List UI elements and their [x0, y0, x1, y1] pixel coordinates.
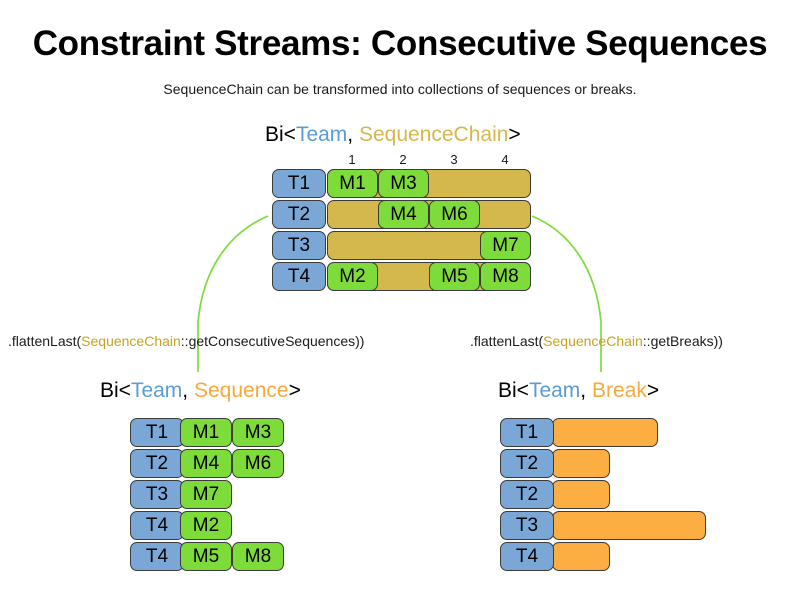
- break-bar-3: [552, 511, 706, 540]
- top-match-cell-M7: M7: [480, 231, 531, 260]
- sequence-match-cell-M3: M3: [232, 418, 284, 447]
- right-call-after: ::getBreaks)): [643, 333, 723, 349]
- sequence-team-cell-0: T1: [130, 418, 184, 447]
- sequence-match-cell-M1: M1: [180, 418, 232, 447]
- top-match-cell-M8: M8: [480, 262, 531, 291]
- break-bar-1: [552, 449, 610, 478]
- top-match-cell-M2: M2: [327, 262, 378, 291]
- break-team-cell-3: T3: [500, 511, 554, 540]
- sequence-match-cell-M6: M6: [232, 449, 284, 478]
- top-match-cell-M6: M6: [429, 200, 480, 229]
- sequence-team-cell-4: T4: [130, 542, 184, 571]
- left-call-highlight: SequenceChain: [81, 333, 181, 349]
- top-match-cell-M1: M1: [327, 169, 378, 198]
- left-call-after: ::getConsecutiveSequences)): [181, 333, 365, 349]
- break-bar-2: [552, 480, 610, 509]
- sequence-match-cell-M5: M5: [180, 542, 232, 571]
- break-team-cell-2: T2: [500, 480, 554, 509]
- break-bar-0: [552, 418, 658, 447]
- connector-left-curve: [198, 216, 268, 322]
- sequence-team-cell-2: T3: [130, 480, 184, 509]
- flatten-consecutive-sequences-call: .flattenLast(SequenceChain::getConsecuti…: [8, 333, 364, 349]
- top-match-cell-M3: M3: [378, 169, 429, 198]
- break-team-cell-0: T1: [500, 418, 554, 447]
- right-call-highlight: SequenceChain: [543, 333, 643, 349]
- diagram-canvas: Constraint Streams: Consecutive Sequence…: [0, 0, 800, 600]
- right-call-before: .flattenLast(: [470, 333, 543, 349]
- break-bar-4: [552, 542, 610, 571]
- connector-right-curve: [532, 216, 601, 322]
- sequence-match-cell-M4: M4: [180, 449, 232, 478]
- break-team-cell-4: T4: [500, 542, 554, 571]
- top-team-cell-T3: T3: [272, 231, 326, 260]
- sequence-match-cell-M8: M8: [232, 542, 284, 571]
- flatten-breaks-call: .flattenLast(SequenceChain::getBreaks)): [470, 333, 723, 349]
- break-team-cell-1: T2: [500, 449, 554, 478]
- top-team-cell-T4: T4: [272, 262, 326, 291]
- top-match-cell-M5: M5: [429, 262, 480, 291]
- sequence-team-cell-3: T4: [130, 511, 184, 540]
- left-call-before: .flattenLast(: [8, 333, 81, 349]
- sequence-team-cell-1: T2: [130, 449, 184, 478]
- sequence-match-cell-M2: M2: [180, 511, 232, 540]
- top-team-cell-T2: T2: [272, 200, 326, 229]
- connector-lines: [0, 0, 800, 600]
- top-team-cell-T1: T1: [272, 169, 326, 198]
- sequence-match-cell-M7: M7: [180, 480, 232, 509]
- top-match-cell-M4: M4: [378, 200, 429, 229]
